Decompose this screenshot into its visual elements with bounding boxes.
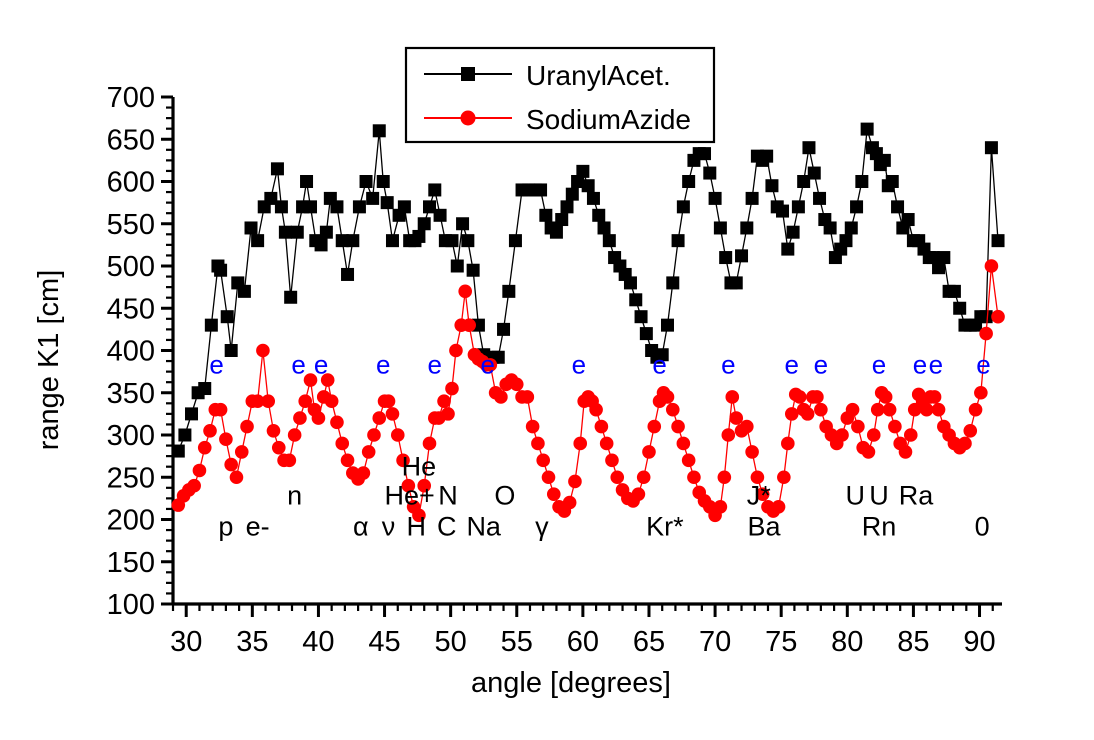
data-point-marker — [304, 200, 317, 213]
data-point-marker — [251, 234, 264, 247]
data-point-marker — [687, 470, 701, 484]
data-point-marker — [357, 466, 371, 480]
data-point-marker — [888, 420, 902, 434]
x-tick-label: 60 — [567, 626, 599, 658]
data-point-marker — [434, 209, 447, 222]
data-point-marker — [330, 416, 344, 430]
annotation-label: He+ — [385, 480, 435, 510]
data-point-marker — [509, 234, 522, 247]
data-point-marker — [740, 221, 753, 234]
x-tick-label: 55 — [501, 626, 533, 658]
data-point-marker — [283, 454, 297, 468]
legend-label: UranylAcet. — [526, 60, 671, 91]
data-point-marker — [948, 285, 961, 298]
data-point-marker — [386, 234, 399, 247]
data-point-marker — [198, 382, 211, 395]
annotation-label: p — [218, 512, 233, 542]
data-point-marker — [974, 386, 988, 400]
annotation-label: n — [287, 480, 302, 510]
data-point-marker — [709, 192, 722, 205]
annotation-label: C — [437, 512, 457, 542]
legend-box[interactable]: UranylAcet.SodiumAzide — [406, 48, 714, 142]
data-point-marker — [958, 437, 972, 451]
data-point-marker — [666, 403, 680, 417]
data-point-marker — [536, 454, 550, 468]
data-point-marker — [312, 411, 326, 425]
data-point-marker — [730, 276, 743, 289]
data-point-marker — [341, 268, 354, 281]
data-point-marker — [979, 327, 993, 341]
data-point-marker — [381, 196, 394, 209]
data-point-marker — [521, 390, 535, 404]
data-point-marker — [462, 318, 476, 332]
annotation-electron-marker: e — [976, 349, 990, 379]
data-point-marker — [494, 390, 508, 404]
chart-root: 1001502002503003504004505005506006507003… — [0, 0, 1094, 740]
annotation-electron-marker: e — [872, 349, 886, 379]
data-point-marker — [315, 238, 328, 251]
annotation-electron-marker: e — [913, 349, 927, 379]
annotation-electron-marker: e — [929, 349, 943, 379]
data-point-marker — [810, 390, 824, 404]
data-point-marker — [963, 424, 977, 438]
data-point-marker — [284, 291, 297, 304]
data-point-marker — [937, 251, 950, 264]
data-point-marker — [603, 234, 616, 247]
data-point-marker — [642, 445, 656, 459]
data-point-marker — [230, 470, 244, 484]
data-point-marker — [814, 403, 828, 417]
y-tick-label: 350 — [107, 378, 155, 410]
data-point-marker — [461, 234, 474, 247]
data-point-marker — [445, 382, 459, 396]
x-tick-label: 65 — [633, 626, 665, 658]
data-point-marker — [985, 141, 998, 154]
data-point-marker — [824, 221, 837, 234]
data-point-marker — [187, 479, 201, 493]
data-point-marker — [272, 441, 286, 455]
data-point-marker — [781, 243, 794, 256]
data-point-marker — [386, 407, 400, 421]
data-point-marker — [467, 264, 480, 277]
data-point-marker — [441, 407, 455, 421]
annotation-electron-marker: e — [572, 349, 586, 379]
annotation-electron-marker: e — [376, 349, 390, 379]
annotation-electron-marker: e — [291, 349, 305, 379]
data-point-marker — [225, 344, 238, 357]
annotation-electron-marker: e — [814, 349, 828, 379]
data-point-marker — [526, 420, 540, 434]
data-point-marker — [661, 390, 675, 404]
data-point-marker — [300, 175, 313, 188]
annotation-label: ν — [382, 512, 396, 542]
annotation-label: Rn — [862, 512, 897, 542]
data-point-marker — [745, 445, 759, 459]
y-tick-label: 400 — [107, 336, 155, 368]
annotation-electron-marker: e — [428, 349, 442, 379]
data-point-marker — [785, 407, 799, 421]
data-point-marker — [629, 293, 642, 306]
data-point-marker — [846, 403, 860, 417]
data-point-marker — [632, 487, 646, 501]
data-point-marker — [899, 445, 913, 459]
x-tick-label: 70 — [699, 626, 731, 658]
annotation-label: γ — [535, 512, 549, 542]
annotation-electron-marker: e — [652, 349, 666, 379]
data-point-marker — [920, 403, 934, 417]
data-point-marker — [412, 230, 425, 243]
annotation-label: Ba — [747, 512, 781, 542]
data-point-marker — [671, 420, 685, 434]
data-point-marker — [722, 428, 736, 442]
data-point-marker — [661, 319, 674, 332]
data-point-marker — [418, 217, 431, 230]
data-point-marker — [802, 141, 815, 154]
annotation-label: 0 — [975, 512, 990, 542]
y-tick-label: 200 — [107, 505, 155, 537]
data-point-marker — [214, 264, 227, 277]
data-point-marker — [205, 319, 218, 332]
data-point-marker — [245, 221, 258, 234]
annotation-label: He — [402, 452, 437, 482]
data-point-marker — [346, 234, 359, 247]
data-point-marker — [985, 259, 999, 273]
legend-marker-circle — [461, 111, 476, 126]
data-point-marker — [635, 310, 648, 323]
data-point-marker — [598, 221, 611, 234]
data-point-marker — [666, 276, 679, 289]
data-point-marker — [497, 323, 510, 336]
data-point-marker — [362, 445, 376, 459]
y-tick-label: 500 — [107, 251, 155, 283]
data-point-marker — [719, 251, 732, 264]
annotation-label: U — [869, 480, 889, 510]
data-point-marker — [451, 260, 464, 273]
data-point-marker — [391, 428, 405, 442]
data-point-marker — [735, 249, 748, 262]
data-point-marker — [235, 445, 249, 459]
data-point-marker — [288, 428, 302, 442]
data-point-marker — [891, 200, 904, 213]
data-point-marker — [637, 470, 651, 484]
annotation-label: e- — [246, 512, 270, 542]
data-point-marker — [871, 403, 885, 417]
data-point-marker — [677, 200, 690, 213]
data-point-marker — [610, 470, 624, 484]
data-point-marker — [573, 437, 587, 451]
data-point-marker — [566, 188, 579, 201]
x-tick-label: 45 — [368, 626, 400, 658]
data-point-marker — [879, 390, 893, 404]
data-point-marker — [267, 424, 281, 438]
data-point-marker — [563, 496, 577, 510]
x-axis-title: angle [degrees] — [471, 667, 671, 699]
data-point-marker — [605, 454, 619, 468]
data-point-marker — [582, 179, 595, 192]
data-point-marker — [932, 403, 946, 417]
data-point-marker — [902, 213, 915, 226]
x-tick-label: 35 — [236, 626, 268, 658]
data-point-marker — [458, 285, 472, 299]
data-point-marker — [293, 411, 307, 425]
data-point-marker — [261, 394, 275, 408]
data-point-marker — [279, 226, 292, 239]
data-point-marker — [589, 403, 603, 417]
data-point-marker — [203, 424, 217, 438]
y-tick-label: 700 — [107, 82, 155, 114]
y-tick-label: 300 — [107, 420, 155, 452]
data-point-marker — [456, 217, 469, 230]
data-point-marker — [238, 285, 251, 298]
data-point-marker — [808, 167, 821, 180]
data-point-marker — [185, 407, 198, 420]
data-point-marker — [781, 437, 795, 451]
data-point-marker — [813, 192, 826, 205]
x-tick-label: 50 — [435, 626, 467, 658]
data-point-marker — [531, 437, 545, 451]
y-tick-label: 450 — [107, 293, 155, 325]
data-point-marker — [275, 200, 288, 213]
data-point-marker — [510, 378, 524, 392]
data-point-marker — [428, 183, 441, 196]
data-point-marker — [672, 234, 685, 247]
data-point-marker — [703, 167, 716, 180]
y-axis-title: range K1 [cm] — [33, 270, 65, 451]
data-point-marker — [502, 285, 515, 298]
data-point-marker — [969, 403, 983, 417]
data-point-marker — [886, 175, 899, 188]
annotation-label: Kr* — [646, 512, 684, 542]
data-point-marker — [240, 420, 254, 434]
x-tick-label: 75 — [765, 626, 797, 658]
data-point-marker — [729, 411, 743, 425]
annotation-label: J* — [747, 480, 772, 510]
data-point-marker — [178, 429, 191, 442]
data-point-marker — [423, 437, 437, 451]
data-point-marker — [725, 390, 739, 404]
data-point-marker — [792, 200, 805, 213]
data-point-marker — [398, 200, 411, 213]
data-point-marker — [992, 234, 1005, 247]
x-tick-label: 30 — [170, 626, 202, 658]
data-point-marker — [377, 175, 390, 188]
data-point-marker — [787, 226, 800, 239]
data-point-marker — [765, 179, 778, 192]
y-tick-label: 550 — [107, 209, 155, 241]
data-point-marker — [172, 445, 185, 458]
data-point-marker — [991, 310, 1005, 324]
x-tick-label: 40 — [302, 626, 334, 658]
data-point-marker — [953, 302, 966, 315]
data-point-marker — [366, 192, 379, 205]
annotation-electron-marker: e — [785, 349, 799, 379]
data-point-marker — [714, 221, 727, 234]
data-point-marker — [883, 403, 897, 417]
data-point-marker — [542, 470, 556, 484]
data-point-marker — [320, 226, 333, 239]
data-point-marker — [677, 437, 691, 451]
data-point-marker — [550, 226, 563, 239]
annotation-label: H — [407, 512, 427, 542]
data-point-marker — [624, 276, 637, 289]
data-point-marker — [682, 454, 696, 468]
data-point-marker — [360, 175, 373, 188]
data-point-marker — [850, 200, 863, 213]
data-point-marker — [382, 394, 396, 408]
annotation-label: Ra — [899, 480, 934, 510]
data-point-marker — [714, 500, 728, 514]
x-tick-label: 85 — [897, 626, 929, 658]
data-point-marker — [373, 124, 386, 137]
data-point-marker — [862, 445, 876, 459]
annotation-label: O — [494, 480, 515, 510]
data-point-marker — [271, 162, 284, 175]
data-point-marker — [449, 344, 463, 358]
data-point-marker — [256, 344, 270, 358]
data-point-marker — [437, 394, 451, 408]
annotation-electron-marker: e — [314, 349, 328, 379]
data-point-marker — [851, 420, 865, 434]
data-point-marker — [776, 205, 789, 218]
annotation-label: U — [845, 480, 865, 510]
data-point-marker — [740, 420, 754, 434]
data-point-marker — [568, 475, 582, 489]
data-point-marker — [839, 234, 852, 247]
annotation-electron-marker: e — [209, 349, 223, 379]
line-chart: 1001502002503003504004505005506006507003… — [0, 0, 1094, 740]
data-point-marker — [547, 487, 561, 501]
data-point-marker — [214, 403, 228, 417]
data-point-marker — [928, 390, 942, 404]
data-point-marker — [980, 310, 993, 323]
legend-label: SodiumAzide — [526, 104, 691, 135]
data-point-marker — [845, 221, 858, 234]
y-tick-label: 100 — [107, 589, 155, 621]
x-tick-label: 90 — [963, 626, 995, 658]
data-point-marker — [698, 147, 711, 160]
data-point-marker — [330, 200, 343, 213]
data-point-marker — [640, 327, 653, 340]
data-point-marker — [867, 428, 881, 442]
data-point-marker — [576, 165, 589, 178]
data-point-marker — [595, 420, 609, 434]
data-point-marker — [746, 192, 759, 205]
data-point-marker — [221, 310, 234, 323]
data-point-marker — [592, 209, 605, 222]
data-point-marker — [445, 234, 458, 247]
data-point-marker — [193, 464, 207, 478]
data-point-marker — [539, 209, 552, 222]
y-tick-label: 150 — [107, 547, 155, 579]
data-point-marker — [561, 200, 574, 213]
data-point-marker — [534, 183, 547, 196]
data-point-marker — [555, 213, 568, 226]
data-point-marker — [647, 420, 661, 434]
data-point-marker — [587, 192, 600, 205]
data-point-marker — [835, 428, 849, 442]
y-tick-label: 650 — [107, 124, 155, 156]
data-point-marker — [367, 428, 381, 442]
legend-marker-square — [461, 67, 475, 81]
annotation-electron-marker: e — [480, 349, 494, 379]
data-point-marker — [325, 394, 339, 408]
data-point-marker — [372, 411, 386, 425]
annotation-label: α — [353, 512, 369, 542]
x-tick-label: 80 — [831, 626, 863, 658]
data-point-marker — [861, 123, 874, 136]
data-point-marker — [718, 470, 732, 484]
annotation-electron-marker: e — [721, 349, 735, 379]
data-point-marker — [198, 441, 212, 455]
data-point-marker — [600, 437, 614, 451]
data-point-marker — [219, 432, 233, 446]
data-point-marker — [855, 175, 868, 188]
data-point-marker — [224, 458, 238, 472]
data-point-marker — [793, 390, 807, 404]
y-tick-label: 250 — [107, 462, 155, 494]
data-point-marker — [801, 407, 815, 421]
data-point-marker — [878, 154, 891, 167]
data-point-marker — [682, 175, 695, 188]
data-point-marker — [341, 454, 355, 468]
annotation-label: N — [438, 480, 458, 510]
annotation-label: Na — [466, 512, 501, 542]
data-point-marker — [291, 226, 304, 239]
data-point-marker — [335, 437, 349, 451]
data-point-marker — [353, 200, 366, 213]
data-point-marker — [904, 428, 918, 442]
y-tick-label: 600 — [107, 167, 155, 199]
data-point-marker — [760, 150, 773, 163]
data-point-marker — [777, 470, 791, 484]
